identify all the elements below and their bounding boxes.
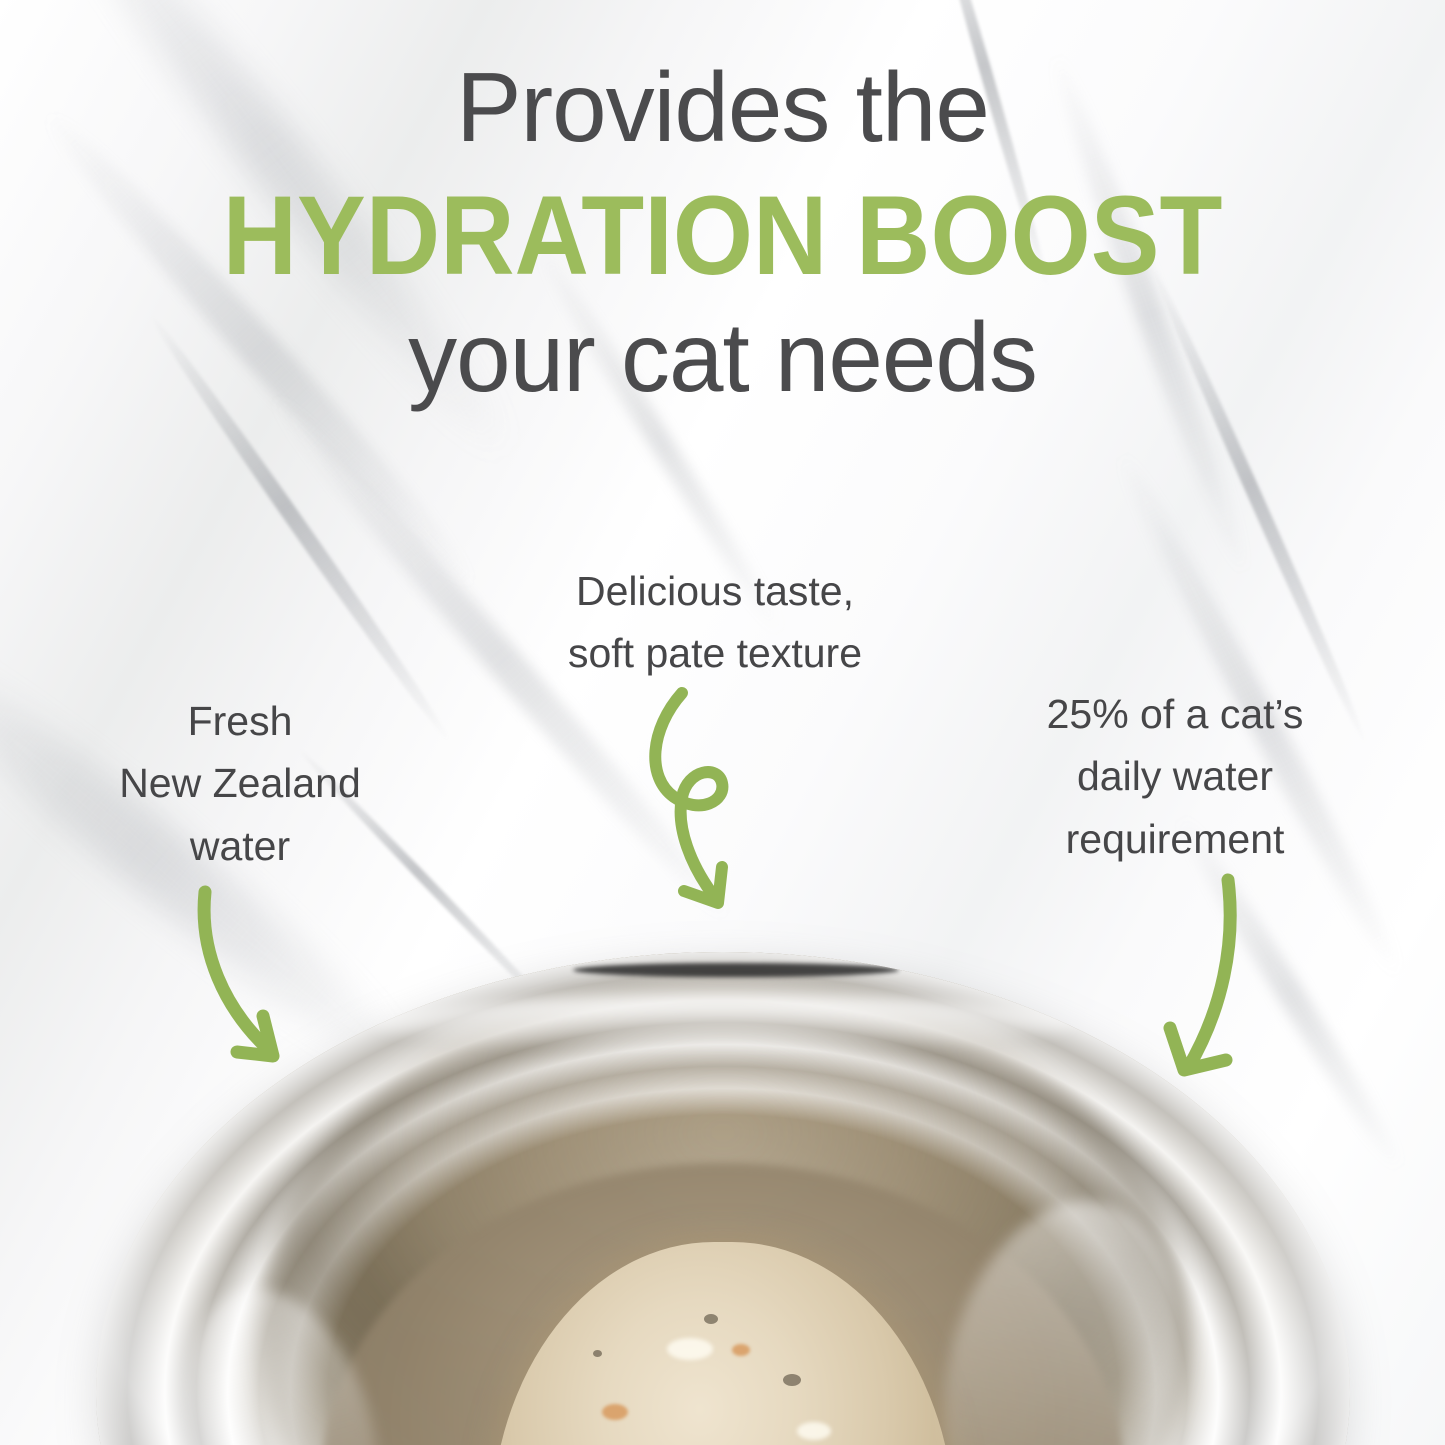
headline-line-2-hydration-boost: HYDRATION BOOST [58, 180, 1387, 292]
promo-graphic: Provides the HYDRATION BOOST your cat ne… [0, 0, 1445, 1445]
bowl-highlight [372, 996, 1074, 1049]
callout-label-daily-water-requirement: 25% of a cat’s daily water requirement [985, 683, 1365, 870]
curved-arrow-down-left-icon [1150, 870, 1310, 1100]
curly-loop-arrow-down-icon [630, 685, 780, 935]
curved-arrow-down-right-icon [175, 880, 335, 1090]
bowl-top-dark-edge [573, 963, 899, 977]
callout-label-delicious-taste: Delicious taste, soft pate texture [480, 560, 950, 685]
callout-label-fresh-new-zealand-water: Fresh New Zealand water [60, 690, 420, 877]
headline-line-1: Provides the [0, 58, 1445, 156]
headline-line-3: your cat needs [0, 308, 1445, 406]
